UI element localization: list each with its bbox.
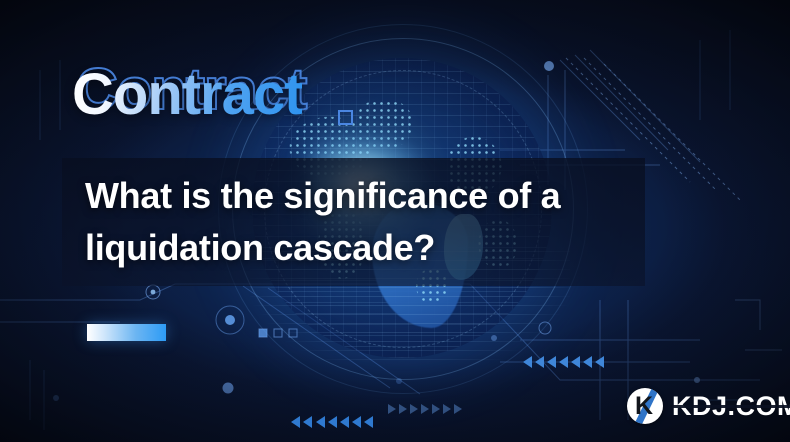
arrow-group-c bbox=[316, 416, 373, 428]
title-square-dot-icon bbox=[338, 110, 354, 126]
category-title: Contract Contract bbox=[72, 66, 302, 124]
category-title-fill: Contract bbox=[72, 62, 302, 127]
page-title: What is the significance of a liquidatio… bbox=[85, 170, 655, 274]
logo-wordmark: KDJ.COM bbox=[672, 391, 790, 422]
category-title-wrap: Contract Contract bbox=[72, 66, 302, 124]
logo-stencil-notch bbox=[672, 405, 790, 408]
accent-bar bbox=[87, 324, 166, 341]
site-logo[interactable]: K KDJ.COM bbox=[627, 388, 790, 424]
banner-image: Contract Contract What is the significan… bbox=[0, 0, 790, 442]
arrow-group-a bbox=[523, 356, 604, 368]
kdj-logo-mark-icon: K bbox=[627, 388, 663, 424]
arrow-group-d bbox=[388, 404, 462, 414]
arrow-group-b bbox=[291, 416, 312, 428]
logo-letter: K bbox=[627, 388, 663, 424]
